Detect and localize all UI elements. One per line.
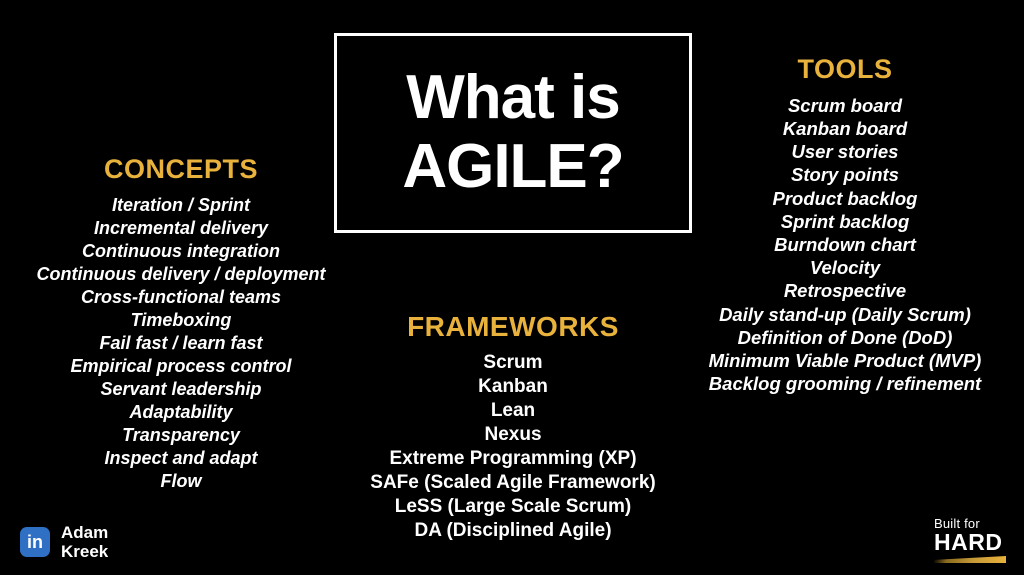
tools-column: TOOLS Scrum board Kanban board User stor…: [666, 55, 1024, 395]
list-item: Nexus: [338, 423, 688, 447]
list-item: Backlog grooming / refinement: [666, 372, 1024, 395]
list-item: Transparency: [0, 424, 362, 447]
list-item: Flow: [0, 470, 362, 493]
concepts-list: Iteration / Sprint Incremental delivery …: [0, 194, 362, 493]
list-item: Velocity: [666, 256, 1024, 279]
list-item: Adaptability: [0, 401, 362, 424]
title-line-1: What is: [406, 68, 619, 129]
list-item: Inspect and adapt: [0, 447, 362, 470]
brand-swoosh-icon: [934, 556, 1006, 563]
linkedin-icon-glyph: in: [20, 527, 50, 557]
list-item: Product backlog: [666, 187, 1024, 210]
list-item: Daily stand-up (Daily Scrum): [666, 303, 1024, 326]
author-first-name: Adam: [61, 523, 108, 542]
list-item: Minimum Viable Product (MVP): [666, 349, 1024, 372]
attribution: in Adam Kreek: [20, 523, 108, 561]
list-item: Definition of Done (DoD): [666, 326, 1024, 349]
author-last-name: Kreek: [61, 542, 108, 561]
list-item: Sprint backlog: [666, 210, 1024, 233]
linkedin-icon[interactable]: in: [20, 527, 50, 557]
list-item: SAFe (Scaled Agile Framework): [338, 471, 688, 495]
title-line-2: AGILE?: [402, 137, 623, 198]
list-item: LeSS (Large Scale Scrum): [338, 495, 688, 519]
list-item: Cross-functional teams: [0, 286, 362, 309]
list-item: Empirical process control: [0, 355, 362, 378]
frameworks-list: Scrum Kanban Lean Nexus Extreme Programm…: [338, 351, 688, 543]
author-name: Adam Kreek: [61, 523, 108, 561]
frameworks-column: FRAMEWORKS Scrum Kanban Lean Nexus Extre…: [338, 312, 688, 543]
list-item: Kanban: [338, 375, 688, 399]
concepts-column: CONCEPTS Iteration / Sprint Incremental …: [0, 155, 362, 493]
list-item: Story points: [666, 163, 1024, 186]
brand-name: HARD: [934, 531, 1006, 554]
list-item: Iteration / Sprint: [0, 194, 362, 217]
list-item: Incremental delivery: [0, 217, 362, 240]
frameworks-heading: FRAMEWORKS: [338, 312, 688, 343]
list-item: Kanban board: [666, 117, 1024, 140]
list-item: Continuous integration: [0, 240, 362, 263]
list-item: Scrum board: [666, 94, 1024, 117]
concepts-heading: CONCEPTS: [0, 155, 362, 185]
list-item: Servant leadership: [0, 378, 362, 401]
list-item: Fail fast / learn fast: [0, 332, 362, 355]
list-item: Extreme Programming (XP): [338, 447, 688, 471]
list-item: Burndown chart: [666, 233, 1024, 256]
list-item: Scrum: [338, 351, 688, 375]
list-item: User stories: [666, 140, 1024, 163]
list-item: DA (Disciplined Agile): [338, 519, 688, 543]
tools-list: Scrum board Kanban board User stories St…: [666, 94, 1024, 396]
list-item: Continuous delivery / deployment: [0, 263, 362, 286]
list-item: Lean: [338, 399, 688, 423]
list-item: Timeboxing: [0, 309, 362, 332]
title-box: What is AGILE?: [334, 33, 692, 233]
list-item: Retrospective: [666, 279, 1024, 302]
tools-heading: TOOLS: [666, 55, 1024, 85]
brand-logo: Built for HARD: [934, 517, 1006, 563]
